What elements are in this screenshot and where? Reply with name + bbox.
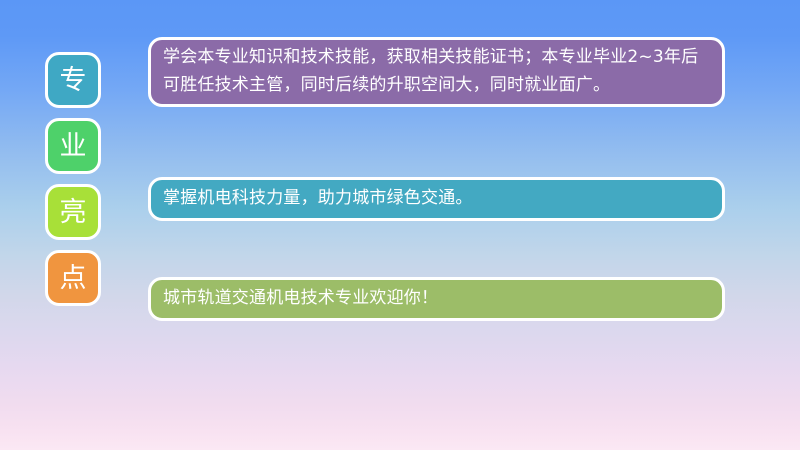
textbox-slogan-technology: 掌握机电科技力量，助力城市绿色交通。 [148, 177, 725, 221]
badge-dian-label: 点 [60, 265, 87, 292]
badge-liang: 亮 [45, 184, 101, 240]
badge-ye: 业 [45, 118, 101, 174]
badge-zhuan-label: 专 [60, 67, 87, 94]
badge-dian: 点 [45, 250, 101, 306]
slide-canvas: 专 业 亮 点 学会本专业知识和技术技能，获取相关技能证书；本专业毕业2~3年后… [0, 0, 800, 450]
badge-ye-label: 业 [60, 133, 87, 160]
badge-zhuan: 专 [45, 52, 101, 108]
textbox-welcome: 城市轨道交通机电技术专业欢迎你！ [148, 277, 725, 321]
textbox-career-outcomes: 学会本专业知识和技术技能，获取相关技能证书；本专业毕业2~3年后可胜任技术主管，… [148, 37, 725, 107]
badge-column: 专 业 亮 点 [45, 52, 107, 316]
badge-liang-label: 亮 [60, 199, 87, 226]
textbox-slogan-technology-text: 掌握机电科技力量，助力城市绿色交通。 [151, 185, 722, 213]
textbox-career-outcomes-text: 学会本专业知识和技术技能，获取相关技能证书；本专业毕业2~3年后可胜任技术主管，… [151, 44, 722, 99]
textbox-welcome-text: 城市轨道交通机电技术专业欢迎你！ [151, 285, 722, 313]
